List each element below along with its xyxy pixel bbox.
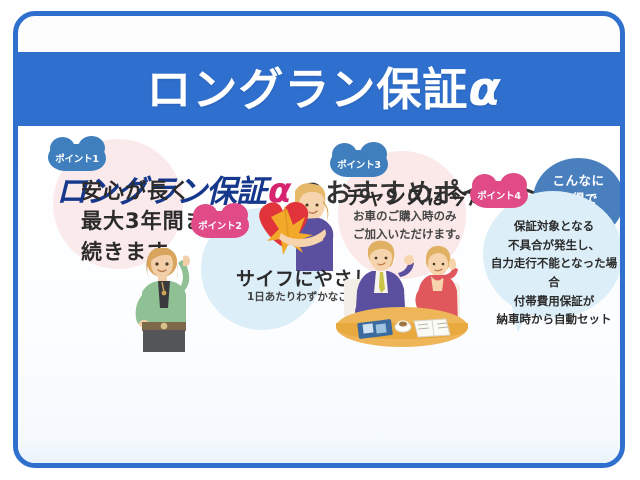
badge-point-2-label: ポイント2 <box>198 218 242 232</box>
header-title-alpha: α <box>468 62 501 117</box>
couple-at-table-icon <box>330 239 476 347</box>
point-4-line-2: 不具合が発生し、 <box>488 236 620 255</box>
point-1-line-1: 安心が長く <box>81 176 229 206</box>
catch-line-1: こんなに <box>552 172 604 191</box>
badge-point-1-label: ポイント1 <box>55 151 99 165</box>
point-4-line-4: 付帯費用保証が <box>488 292 620 311</box>
badge-point-1: ポイント1 <box>48 144 106 171</box>
poster-body: ロングラン保証αのおすすめポイント こんなに お得で 長く安心 ポイント1 安心… <box>18 126 620 463</box>
poster-frame: ロングラン保証α ロングラン保証αのおすすめポイント こんなに お得で 長く安心 <box>13 11 625 468</box>
header-title-text: ロングラン保証 <box>146 63 468 116</box>
point-4-text: 保証対象となる 不具合が発生し、 自力走行不能となった場合 付帯費用保証が 納車… <box>488 217 620 329</box>
woman-raising-hand-icon <box>128 248 200 354</box>
header-band: ロングラン保証α <box>13 52 625 126</box>
bottom-gradient <box>18 437 620 463</box>
badge-point-4-label: ポイント4 <box>477 188 521 202</box>
badge-point-4: ポイント4 <box>470 181 528 208</box>
point-4-line-5: 納車時から自動セット <box>488 310 620 329</box>
badge-point-2: ポイント2 <box>191 211 249 238</box>
point-3-sub-line-1: お車のご購入時のみ <box>353 208 467 226</box>
page-title: ロングラン保証α <box>146 66 501 113</box>
warranty-poster: ロングラン保証α ロングラン保証αのおすすめポイント こんなに お得で 長く安心 <box>0 0 640 480</box>
badge-point-3: ポイント3 <box>330 150 388 177</box>
point-4-line-1: 保証対象となる <box>488 217 620 236</box>
point-4-line-3: 自力走行不能となった場合 <box>488 254 620 291</box>
badge-point-3-label: ポイント3 <box>337 157 381 171</box>
